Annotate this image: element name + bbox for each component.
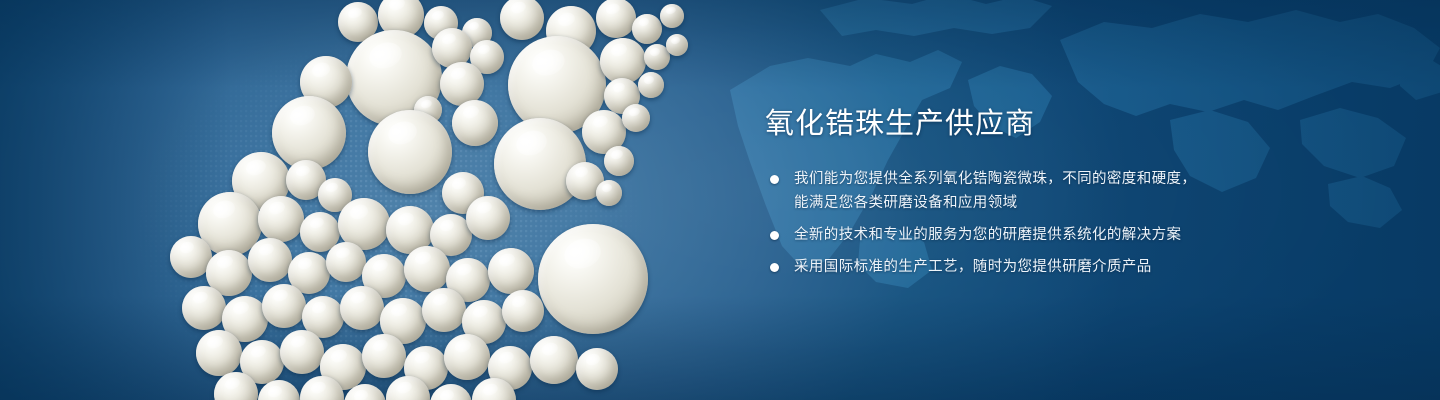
banner-title: 氧化锆珠生产供应商 xyxy=(765,104,1405,144)
hero-banner: 氧化锆珠生产供应商 我们能为您提供全系列氧化锆陶瓷微珠，不同的密度和硬度， 能满… xyxy=(0,0,1440,400)
bullet-line: 能满足您各类研磨设备和应用领域 xyxy=(794,191,1405,215)
bullet-dot-icon xyxy=(770,263,779,272)
bullet-line: 全新的技术和专业的服务为您的研磨提供系统化的解决方案 xyxy=(794,223,1405,247)
list-item: 我们能为您提供全系列氧化锆陶瓷微珠，不同的密度和硬度， 能满足您各类研磨设备和应… xyxy=(765,167,1405,215)
zirconia-beads-photo xyxy=(0,0,760,400)
banner-feature-list: 我们能为您提供全系列氧化锆陶瓷微珠，不同的密度和硬度， 能满足您各类研磨设备和应… xyxy=(765,167,1405,279)
bullet-line: 采用国际标准的生产工艺，随时为您提供研磨介质产品 xyxy=(794,255,1405,279)
bullet-dot-icon xyxy=(770,231,779,240)
list-item: 采用国际标准的生产工艺，随时为您提供研磨介质产品 xyxy=(765,255,1405,279)
bullet-dot-icon xyxy=(770,175,779,184)
banner-content: 氧化锆珠生产供应商 我们能为您提供全系列氧化锆陶瓷微珠，不同的密度和硬度， 能满… xyxy=(765,104,1405,279)
bullet-line: 我们能为您提供全系列氧化锆陶瓷微珠，不同的密度和硬度， xyxy=(794,167,1405,191)
list-item: 全新的技术和专业的服务为您的研磨提供系统化的解决方案 xyxy=(765,223,1405,247)
